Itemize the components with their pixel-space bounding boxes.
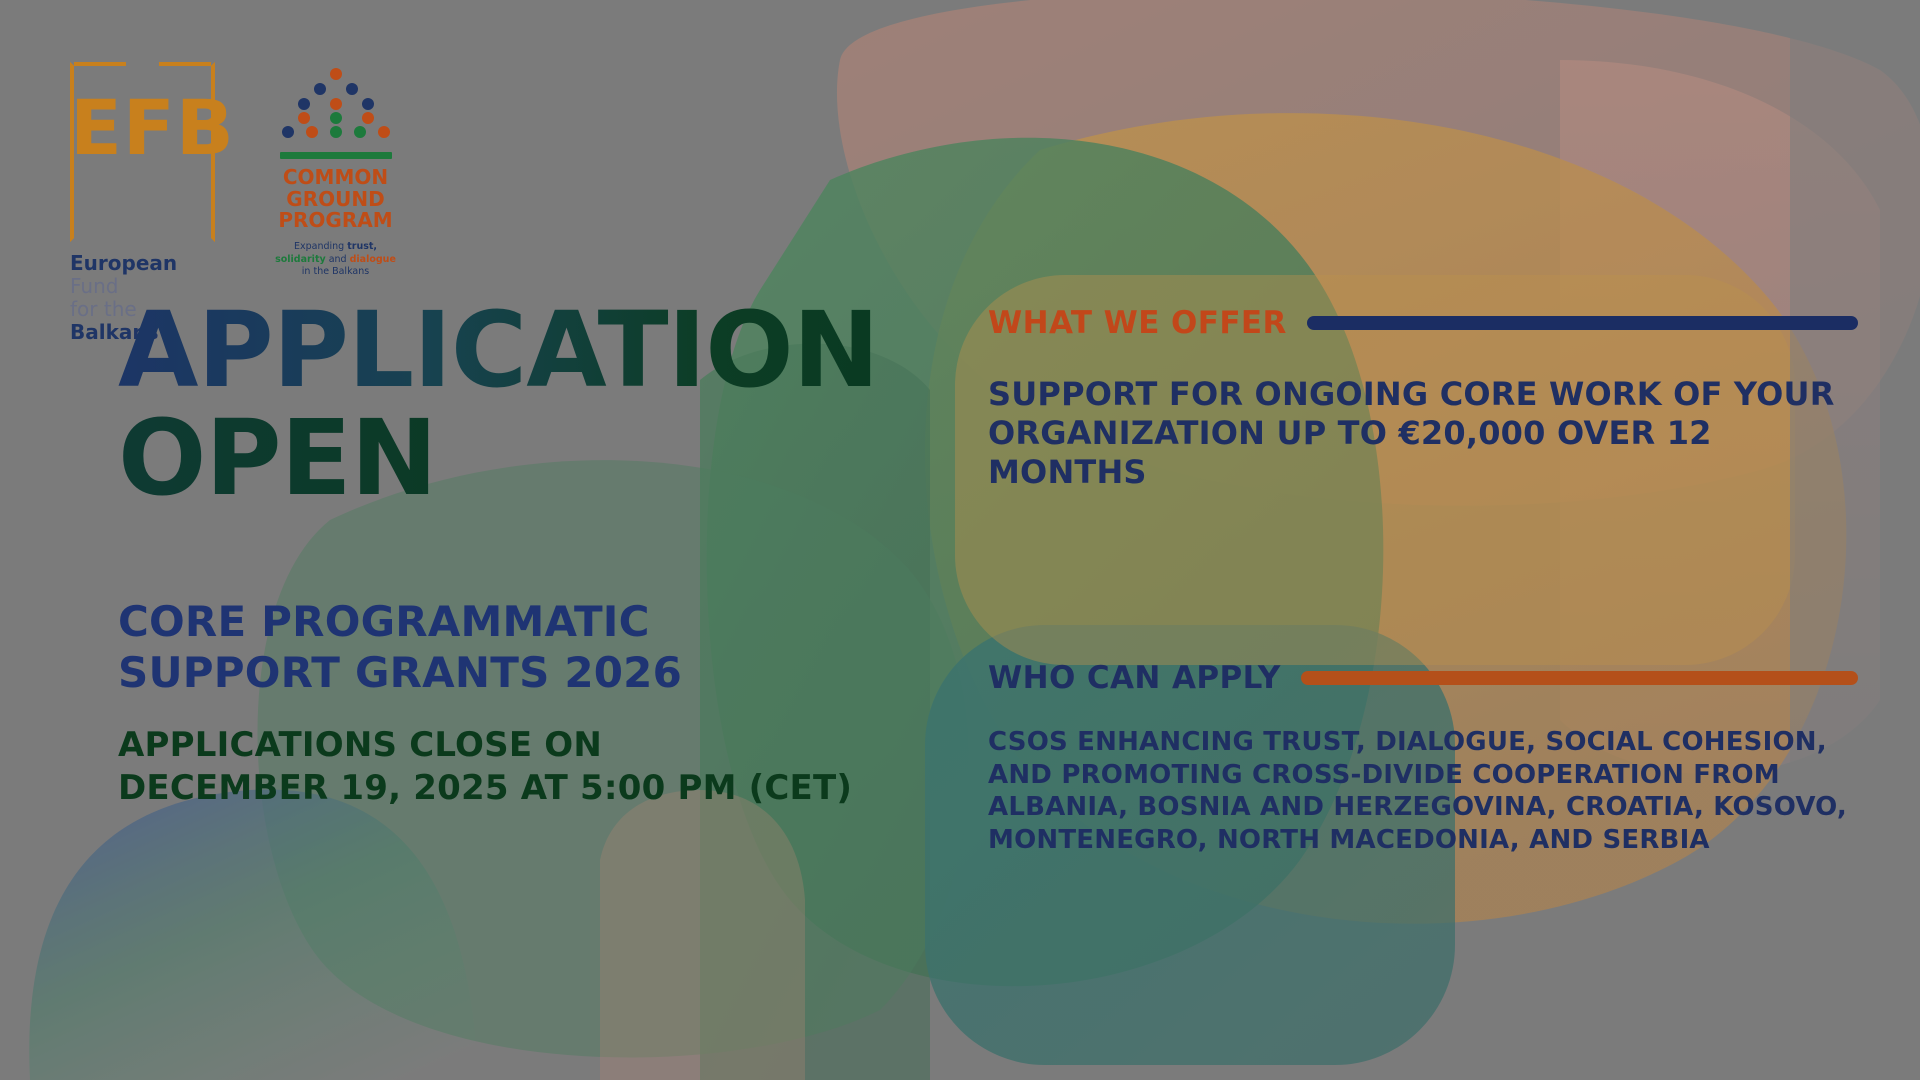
deadline-notice: APPLICATIONS CLOSE ON DECEMBER 19, 2025 …	[118, 724, 878, 809]
who-can-apply-title: WHO CAN APPLY	[988, 660, 1281, 696]
left-content-column: APPLICATIONS OPEN CORE PROGRAMMATIC SUPP…	[118, 300, 878, 809]
efb-logo-mark: EFB	[70, 62, 215, 242]
cgp-tagline-dialogue: dialogue	[350, 254, 396, 265]
cgp-tagline-balkans: in the Balkans	[273, 266, 398, 279]
subtitle-line-2: SUPPORT GRANTS 2026	[118, 647, 878, 698]
poster-canvas: EFB European Fund for the Balkans	[0, 0, 1920, 1080]
dot-pyramid-icon	[277, 66, 395, 145]
who-can-apply-body-line-3: ALBANIA, BOSNIA AND HERZEGOVINA, CROATIA…	[988, 791, 1858, 824]
who-can-apply-panel: WHO CAN APPLY CSOS ENHANCING TRUST, DIAL…	[988, 660, 1858, 856]
cgp-word-program: PROGRAM	[273, 210, 398, 232]
what-we-offer-heading: WHAT WE OFFER	[988, 305, 1858, 341]
subtitle-line-1: CORE PROGRAMMATIC	[118, 596, 878, 647]
program-subtitle: CORE PROGRAMMATIC SUPPORT GRANTS 2026	[118, 596, 878, 698]
what-we-offer-body-line-1: SUPPORT FOR ONGOING CORE WORK OF YOUR	[988, 375, 1858, 414]
cgp-tagline-and: and	[329, 254, 347, 265]
who-can-apply-body-line-2: AND PROMOTING CROSS-DIVIDE COOPERATION F…	[988, 759, 1858, 792]
cgp-tagline: Expanding trust, solidarity and dialogue…	[273, 241, 398, 279]
cgp-word-ground: GROUND	[273, 189, 398, 211]
headline-line-applications: APPLICATIONS	[118, 300, 878, 402]
efb-monogram: EFB	[70, 90, 215, 166]
who-can-apply-body: CSOS ENHANCING TRUST, DIALOGUE, SOCIAL C…	[988, 726, 1858, 856]
what-we-offer-panel: WHAT WE OFFER SUPPORT FOR ONGOING CORE W…	[988, 305, 1858, 492]
what-we-offer-body-line-2: ORGANIZATION UP TO €20,000 OVER 12 MONTH…	[988, 414, 1858, 492]
who-can-apply-heading: WHO CAN APPLY	[988, 660, 1858, 696]
who-can-apply-rule	[1301, 671, 1858, 685]
headline-line-open: OPEN	[118, 408, 878, 510]
efb-word-fund: Fund	[70, 274, 118, 298]
what-we-offer-body: SUPPORT FOR ONGOING CORE WORK OF YOUR OR…	[988, 375, 1858, 492]
common-ground-program-logo: COMMON GROUND PROGRAM Expanding trust, s…	[273, 62, 398, 279]
what-we-offer-title: WHAT WE OFFER	[988, 305, 1287, 341]
what-we-offer-rule	[1307, 316, 1858, 330]
cgp-tagline-trust: trust,	[347, 241, 377, 252]
cgp-tagline-solidarity: solidarity	[275, 254, 326, 265]
cgp-underline	[280, 152, 392, 159]
cgp-word-common: COMMON	[273, 167, 398, 189]
deadline-line-2: DECEMBER 19, 2025 AT 5:00 PM (CET)	[118, 767, 878, 810]
efb-word-european: European	[70, 251, 177, 275]
cgp-wordmark: COMMON GROUND PROGRAM	[273, 167, 398, 232]
deadline-line-1: APPLICATIONS CLOSE ON	[118, 724, 878, 767]
who-can-apply-body-line-4: MONTENEGRO, NORTH MACEDONIA, AND SERBIA	[988, 824, 1858, 857]
page-title: APPLICATIONS OPEN	[118, 300, 878, 510]
cgp-tagline-expanding: Expanding	[294, 241, 344, 252]
who-can-apply-body-line-1: CSOS ENHANCING TRUST, DIALOGUE, SOCIAL C…	[988, 726, 1858, 759]
